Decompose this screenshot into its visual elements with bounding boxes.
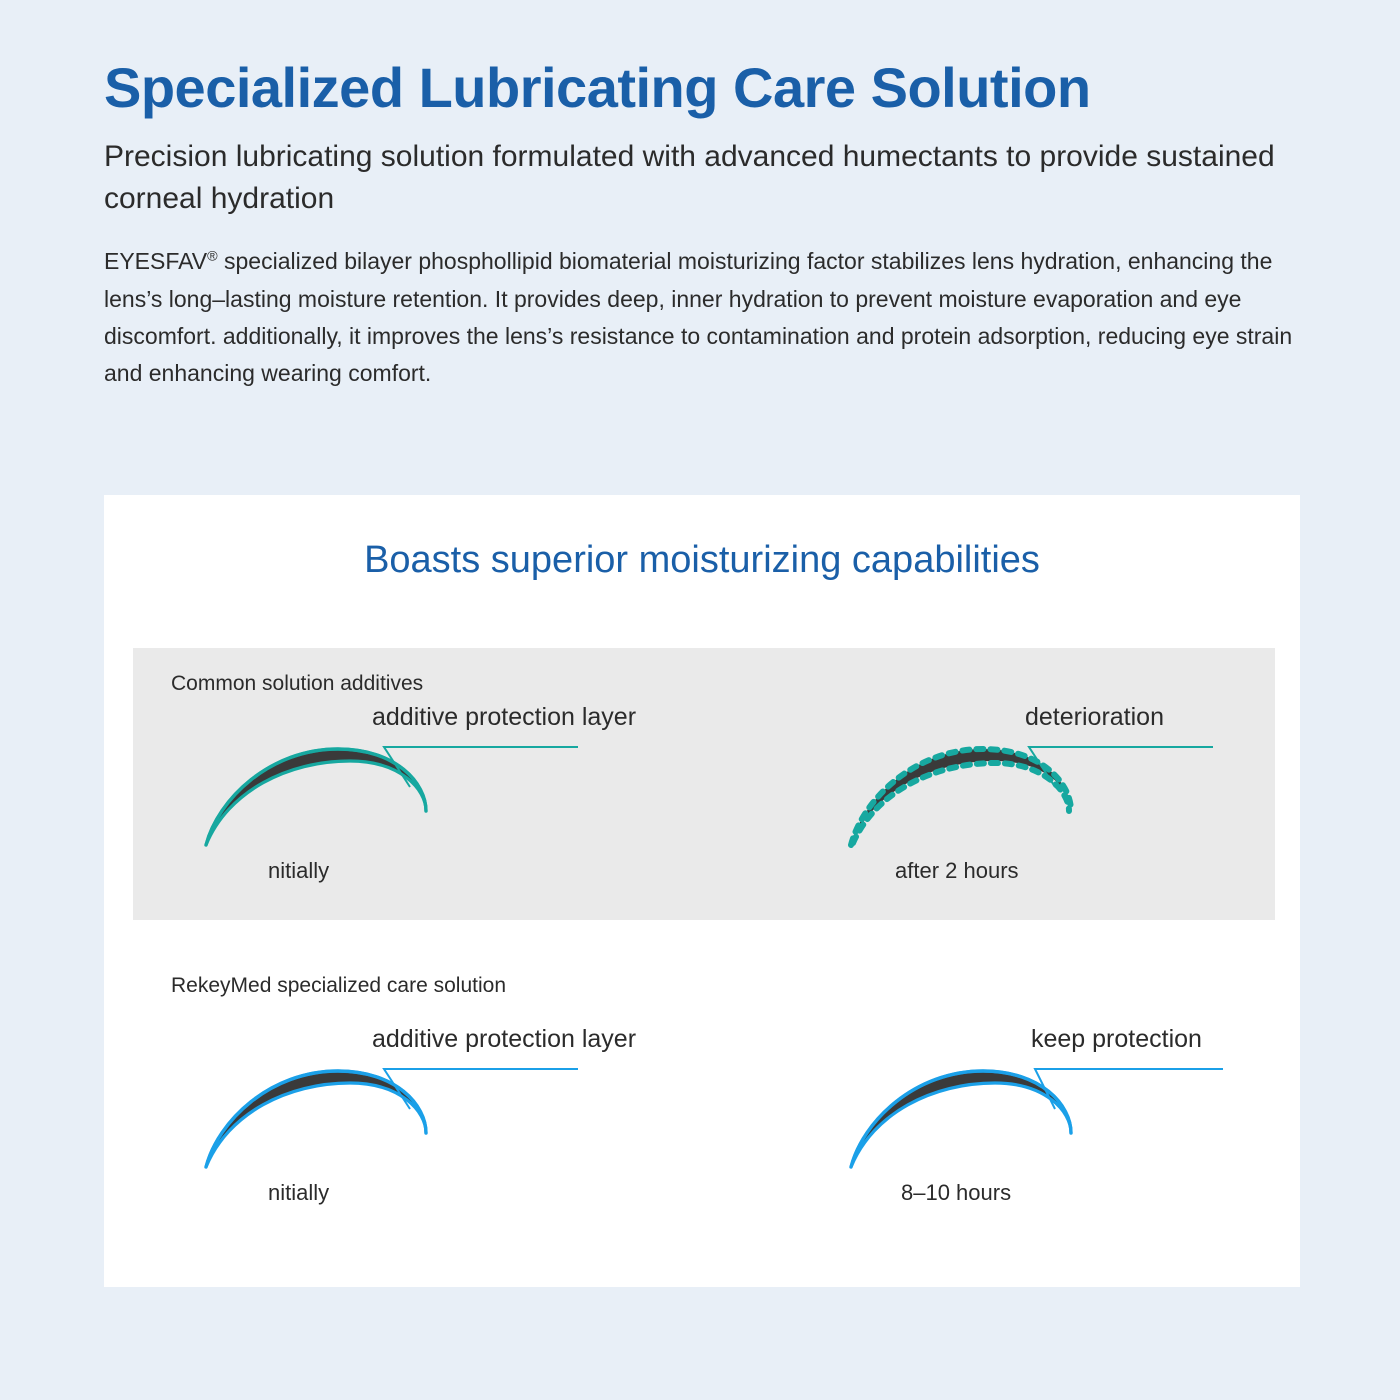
panel-label-rekeymed: RekeyMed specialized care solution bbox=[171, 974, 506, 998]
registered-trademark-icon: ® bbox=[207, 248, 218, 264]
page-subtitle: Precision lubricating solution formulate… bbox=[104, 136, 1344, 221]
page-title: Specialized Lubricating Care Solution bbox=[104, 56, 1344, 120]
brand-name: EYESFAV bbox=[104, 248, 207, 274]
callout-label-deterioration: deterioration bbox=[1025, 703, 1164, 732]
callout-label-keep-protection: keep protection bbox=[1031, 1025, 1202, 1054]
figure-common-after-2-hours: deterioration after 2 hours bbox=[833, 703, 1303, 913]
callout-leader-line bbox=[1035, 1069, 1223, 1109]
body-paragraph: EYESFAV® specialized bilayer phosphollip… bbox=[104, 243, 1324, 393]
callout-label-additive-protection-layer: additive protection layer bbox=[372, 1025, 636, 1054]
comparison-card: Boasts superior moisturizing capabilitie… bbox=[104, 495, 1300, 1287]
figure-common-initial: additive protection layer nitially bbox=[188, 703, 658, 913]
panel-common-solution-additives: Common solution additives additive prote… bbox=[133, 648, 1275, 920]
card-heading: Boasts superior moisturizing capabilitie… bbox=[104, 539, 1300, 582]
panel-rekeymed-care-solution: RekeyMed specialized care solution addit… bbox=[133, 950, 1275, 1250]
caption-initially: nitially bbox=[268, 1180, 329, 1206]
callout-label-additive-protection-layer: additive protection layer bbox=[372, 703, 636, 732]
lens-coating-arc-inner-degraded bbox=[853, 763, 1069, 843]
page-root: Specialized Lubricating Care Solution Pr… bbox=[0, 0, 1400, 1400]
panel-label-common: Common solution additives bbox=[171, 672, 423, 696]
caption-8-10-hours: 8–10 hours bbox=[901, 1180, 1011, 1206]
caption-after-2-hours: after 2 hours bbox=[895, 858, 1019, 884]
caption-initially: nitially bbox=[268, 858, 329, 884]
figure-rekeymed-8-10-hours: keep protection 8–10 hours bbox=[833, 1025, 1303, 1235]
figure-rekeymed-initial: additive protection layer nitially bbox=[188, 1025, 658, 1235]
header: Specialized Lubricating Care Solution Pr… bbox=[104, 56, 1344, 393]
body-paragraph-text: specialized bilayer phosphollipid biomat… bbox=[104, 248, 1292, 386]
